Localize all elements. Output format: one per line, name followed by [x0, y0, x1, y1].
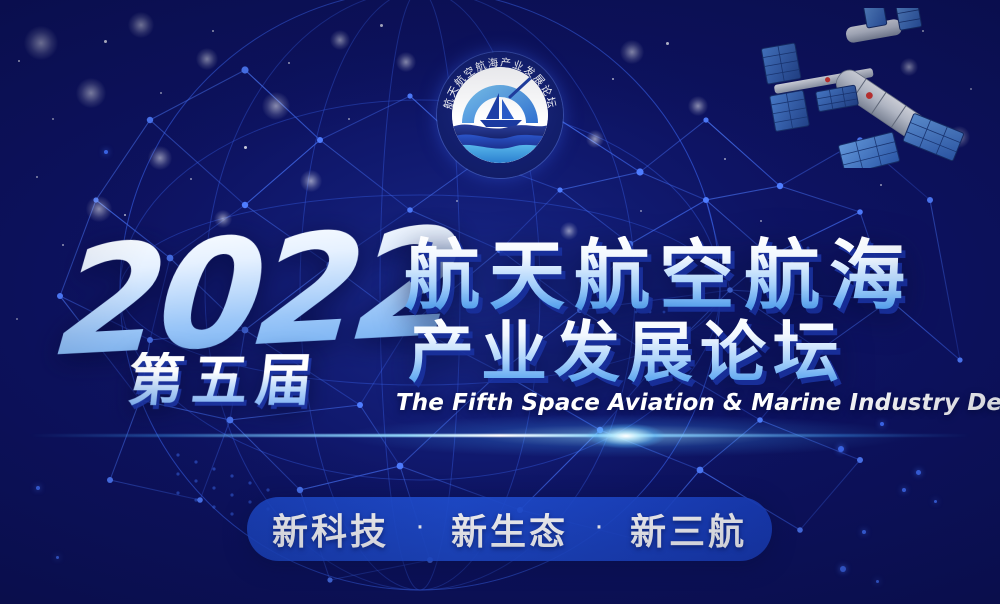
slogan-separator-2: ·: [594, 511, 604, 541]
forum-logo: 航天航空航海产业发展论坛 Space Aviation & Marine Ind…: [437, 52, 563, 178]
space-station-icon: [758, 8, 986, 168]
slogan-banner: 新科技 · 新生态 · 新三航: [247, 497, 772, 561]
slogan-item-1: 新科技: [272, 503, 389, 555]
title-line-2: 产业发展论坛: [408, 316, 964, 390]
slogan-item-2: 新生态: [451, 503, 568, 555]
logo-emblem-icon: [452, 67, 548, 163]
title-line-1: 航天航空航海: [404, 236, 964, 316]
main-title: 航天航空航海 产业发展论坛: [404, 236, 964, 390]
slogan-separator-1: ·: [415, 511, 425, 541]
edition-label: 第五届: [125, 352, 323, 410]
event-poster: 航天航空航海产业发展论坛 Space Aviation & Marine Ind…: [0, 0, 1000, 604]
slogan-item-3: 新三航: [630, 503, 747, 555]
english-subtitle: The Fifth Space Aviation & Marine Indust…: [396, 389, 1000, 417]
year-brush-text: 2022: [62, 218, 442, 368]
